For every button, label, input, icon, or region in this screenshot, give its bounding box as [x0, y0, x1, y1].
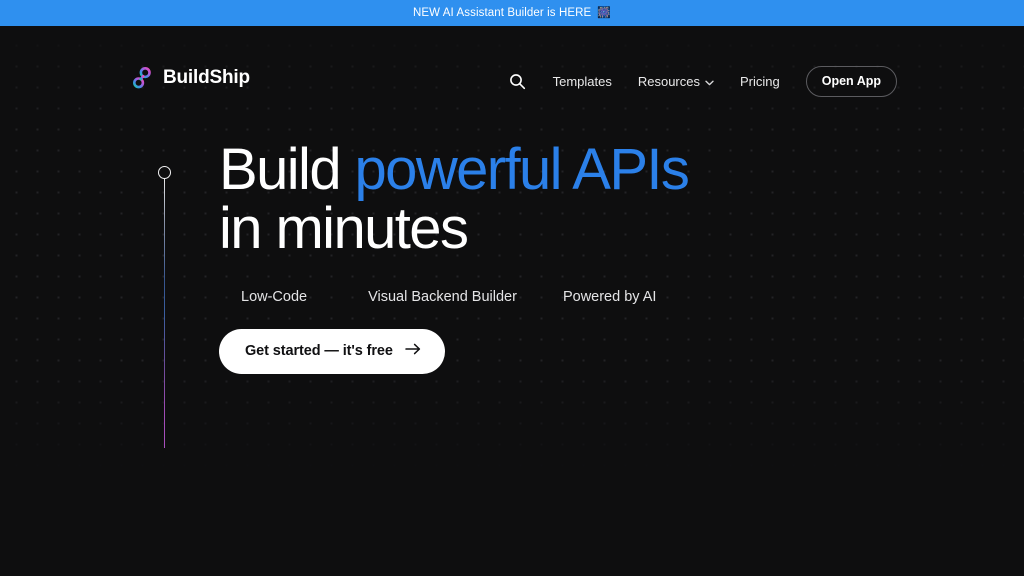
feature-tag-low-code: Low-Code	[241, 289, 307, 305]
firework-emoji-icon: 🎆	[597, 8, 611, 19]
circle-marker-icon	[158, 166, 171, 179]
nav-link-templates[interactable]: Templates	[553, 74, 612, 89]
site-header: BuildShip Templates Resources	[0, 26, 1024, 79]
get-started-button-label: Get started — it's free	[245, 343, 393, 359]
feature-tag-list: Low-Code Visual Backend Builder Powered …	[241, 289, 688, 305]
open-app-button[interactable]: Open App	[806, 66, 897, 97]
nav-link-pricing-label: Pricing	[740, 74, 780, 89]
chevron-down-icon	[705, 74, 714, 89]
arrow-right-icon	[405, 343, 421, 359]
feature-tag-visual-backend-builder: Visual Backend Builder	[368, 289, 517, 305]
nav-link-templates-label: Templates	[553, 74, 612, 89]
page-root: NEW AI Assistant Builder is HERE 🎆	[0, 0, 1024, 576]
nav-link-resources-label: Resources	[638, 74, 700, 89]
headline-accent: powerful APIs	[355, 137, 689, 202]
feature-tag-powered-by-ai: Powered by AI	[563, 289, 657, 305]
announcement-banner-text: NEW AI Assistant Builder is HERE	[413, 7, 591, 19]
headline-line-2: in minutes	[219, 196, 467, 261]
rail-gradient-line	[164, 179, 166, 448]
search-icon[interactable]	[505, 69, 531, 95]
headline-plain-1: Build	[219, 137, 340, 202]
logo-text: BuildShip	[163, 67, 250, 89]
main-nav: Templates Resources Pricing Open App	[505, 66, 897, 97]
page-title: Build powerful APIs in minutes	[219, 140, 688, 258]
get-started-button[interactable]: Get started — it's free	[219, 329, 445, 374]
announcement-banner[interactable]: NEW AI Assistant Builder is HERE 🎆	[0, 0, 1024, 26]
hero-section: Build powerful APIs in minutes Low-Code …	[219, 140, 688, 374]
nav-link-resources[interactable]: Resources	[638, 74, 714, 89]
gradient-timeline-rail	[158, 166, 172, 448]
logo[interactable]: BuildShip	[131, 66, 250, 90]
nav-link-pricing[interactable]: Pricing	[740, 74, 780, 89]
buildship-knot-icon	[131, 66, 153, 90]
